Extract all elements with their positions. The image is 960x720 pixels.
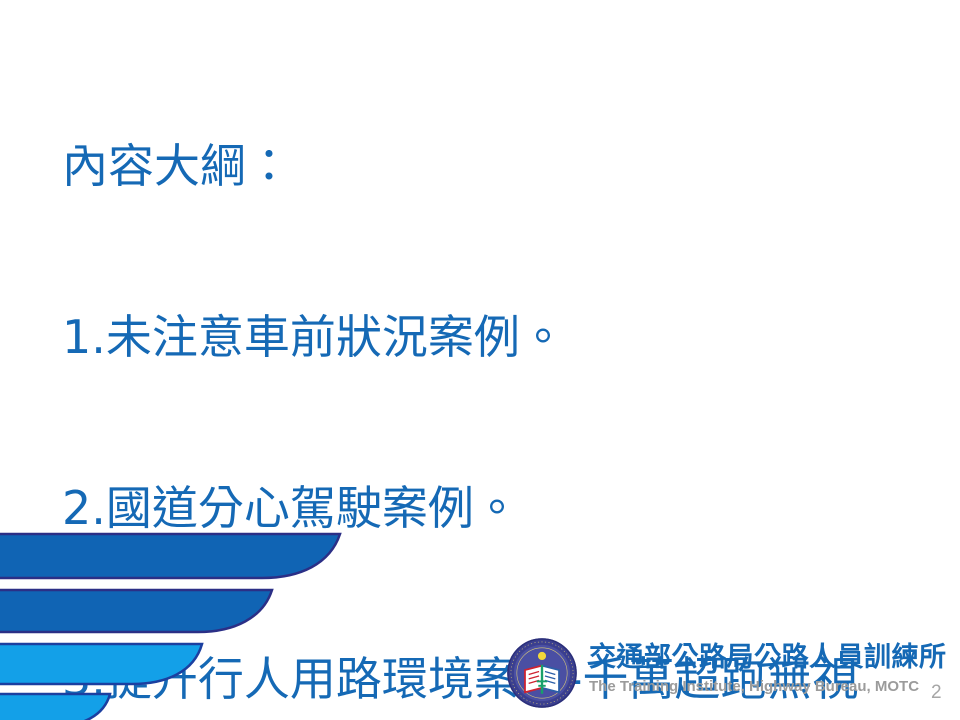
organization-name-block: 交通部公路局公路人員訓練所 The Training Institute, Hi… [589, 642, 929, 697]
training-institute-emblem-icon [505, 636, 579, 710]
footer-logo-lockup: 交通部公路局公路人員訓練所 The Training Institute, Hi… [505, 634, 960, 716]
outline-heading: 內容大綱： [62, 138, 942, 195]
organization-name-cn: 交通部公路局公路人員訓練所 [589, 642, 929, 674]
slide-canvas: 內容大綱： 1.未注意車前狀況案例。 2.國道分心駕駛案例。 3.提升行人用路環… [0, 0, 960, 720]
organization-name-en: The Training Institute, Highway Bureau, … [589, 677, 929, 697]
outline-text-block: 內容大綱： 1.未注意車前狀況案例。 2.國道分心駕駛案例。 3.提升行人用路環… [62, 24, 942, 720]
page-number: 2 [931, 682, 942, 704]
outline-line-item-2: 2.國道分心駕駛案例。 [62, 480, 942, 537]
outline-line-item-1: 1.未注意車前狀況案例。 [62, 309, 942, 366]
